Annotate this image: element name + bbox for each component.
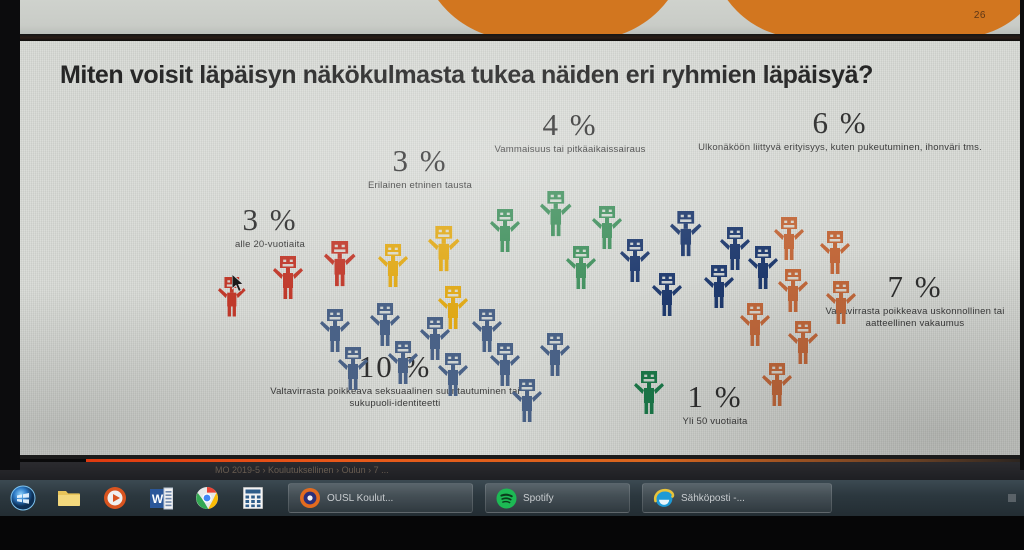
pictogram-person bbox=[820, 231, 850, 274]
pictogram-person bbox=[826, 281, 856, 324]
slide-top-decoration: 26 bbox=[18, 0, 1024, 36]
taskbar-task-email[interactable]: Sähköposti -... bbox=[642, 483, 832, 513]
pictogram-figures bbox=[20, 41, 1020, 455]
pictogram-person bbox=[378, 244, 408, 287]
pictogram-person bbox=[273, 256, 303, 299]
pictogram-person bbox=[320, 309, 350, 352]
slide-page-number: 26 bbox=[974, 10, 986, 21]
pictogram-person bbox=[774, 217, 804, 260]
calculator-icon[interactable] bbox=[230, 481, 276, 515]
taskbar-task-spotify[interactable]: Spotify bbox=[485, 483, 630, 513]
pictogram-person bbox=[620, 239, 650, 282]
photographed-monitor: 26 Miten voisit läpäisyn näkökulmasta tu… bbox=[0, 0, 1024, 550]
pictogram-person bbox=[788, 321, 818, 364]
pictogram-person bbox=[490, 343, 520, 386]
pictogram-person bbox=[778, 269, 808, 312]
spotify-icon bbox=[496, 488, 517, 509]
presentation-icon bbox=[299, 487, 321, 509]
slide-separator bbox=[18, 34, 1024, 41]
pictogram-person bbox=[566, 246, 596, 289]
pictogram-person bbox=[324, 241, 356, 286]
start-button[interactable] bbox=[0, 481, 46, 515]
pictogram-person bbox=[540, 191, 572, 236]
folder-explorer-icon[interactable] bbox=[46, 481, 92, 515]
pictogram-person bbox=[438, 353, 468, 396]
internet-explorer-icon bbox=[653, 487, 675, 509]
mouse-cursor-icon bbox=[232, 274, 246, 294]
statusbar-path: MO 2019-5 › Koulutuksellinen › Oulun › 7… bbox=[215, 465, 389, 475]
pictogram-person bbox=[720, 227, 750, 270]
monitor-bezel-left bbox=[0, 0, 20, 470]
media-player-icon[interactable] bbox=[92, 481, 138, 515]
monitor-bezel-right bbox=[1020, 0, 1024, 470]
word-icon[interactable]: W bbox=[138, 481, 184, 515]
desk-surface bbox=[0, 516, 1024, 550]
taskbar-task-label: Spotify bbox=[523, 493, 554, 504]
pictogram-person bbox=[762, 363, 792, 406]
pictogram-person bbox=[592, 206, 622, 249]
pictogram-person bbox=[512, 379, 542, 422]
pictogram-person bbox=[704, 265, 734, 308]
system-tray[interactable] bbox=[1008, 494, 1016, 502]
taskbar-task-label: Sähköposti -... bbox=[681, 493, 745, 504]
pictogram-person bbox=[748, 246, 778, 289]
windows-taskbar[interactable]: W bbox=[0, 480, 1024, 516]
chrome-icon[interactable] bbox=[184, 481, 230, 515]
svg-text:W: W bbox=[151, 492, 163, 506]
pictogram-person bbox=[670, 211, 702, 256]
taskbar-task-presentation[interactable]: OUSL Koulut... bbox=[288, 483, 473, 513]
taskbar-task-label: OUSL Koulut... bbox=[327, 493, 393, 504]
pictogram-person bbox=[652, 273, 682, 316]
pictogram-person bbox=[388, 341, 418, 384]
orange-shape-left bbox=[418, 0, 688, 36]
pictogram-person bbox=[634, 371, 664, 414]
pictogram-person bbox=[370, 303, 400, 346]
pictogram-person bbox=[490, 209, 520, 252]
pictogram-person bbox=[540, 333, 570, 376]
pictogram-person bbox=[428, 226, 460, 271]
presentation-slide[interactable]: Miten voisit läpäisyn näkökulmasta tukea… bbox=[20, 41, 1020, 455]
pictogram-person bbox=[740, 303, 770, 346]
pictogram-person bbox=[338, 347, 368, 390]
